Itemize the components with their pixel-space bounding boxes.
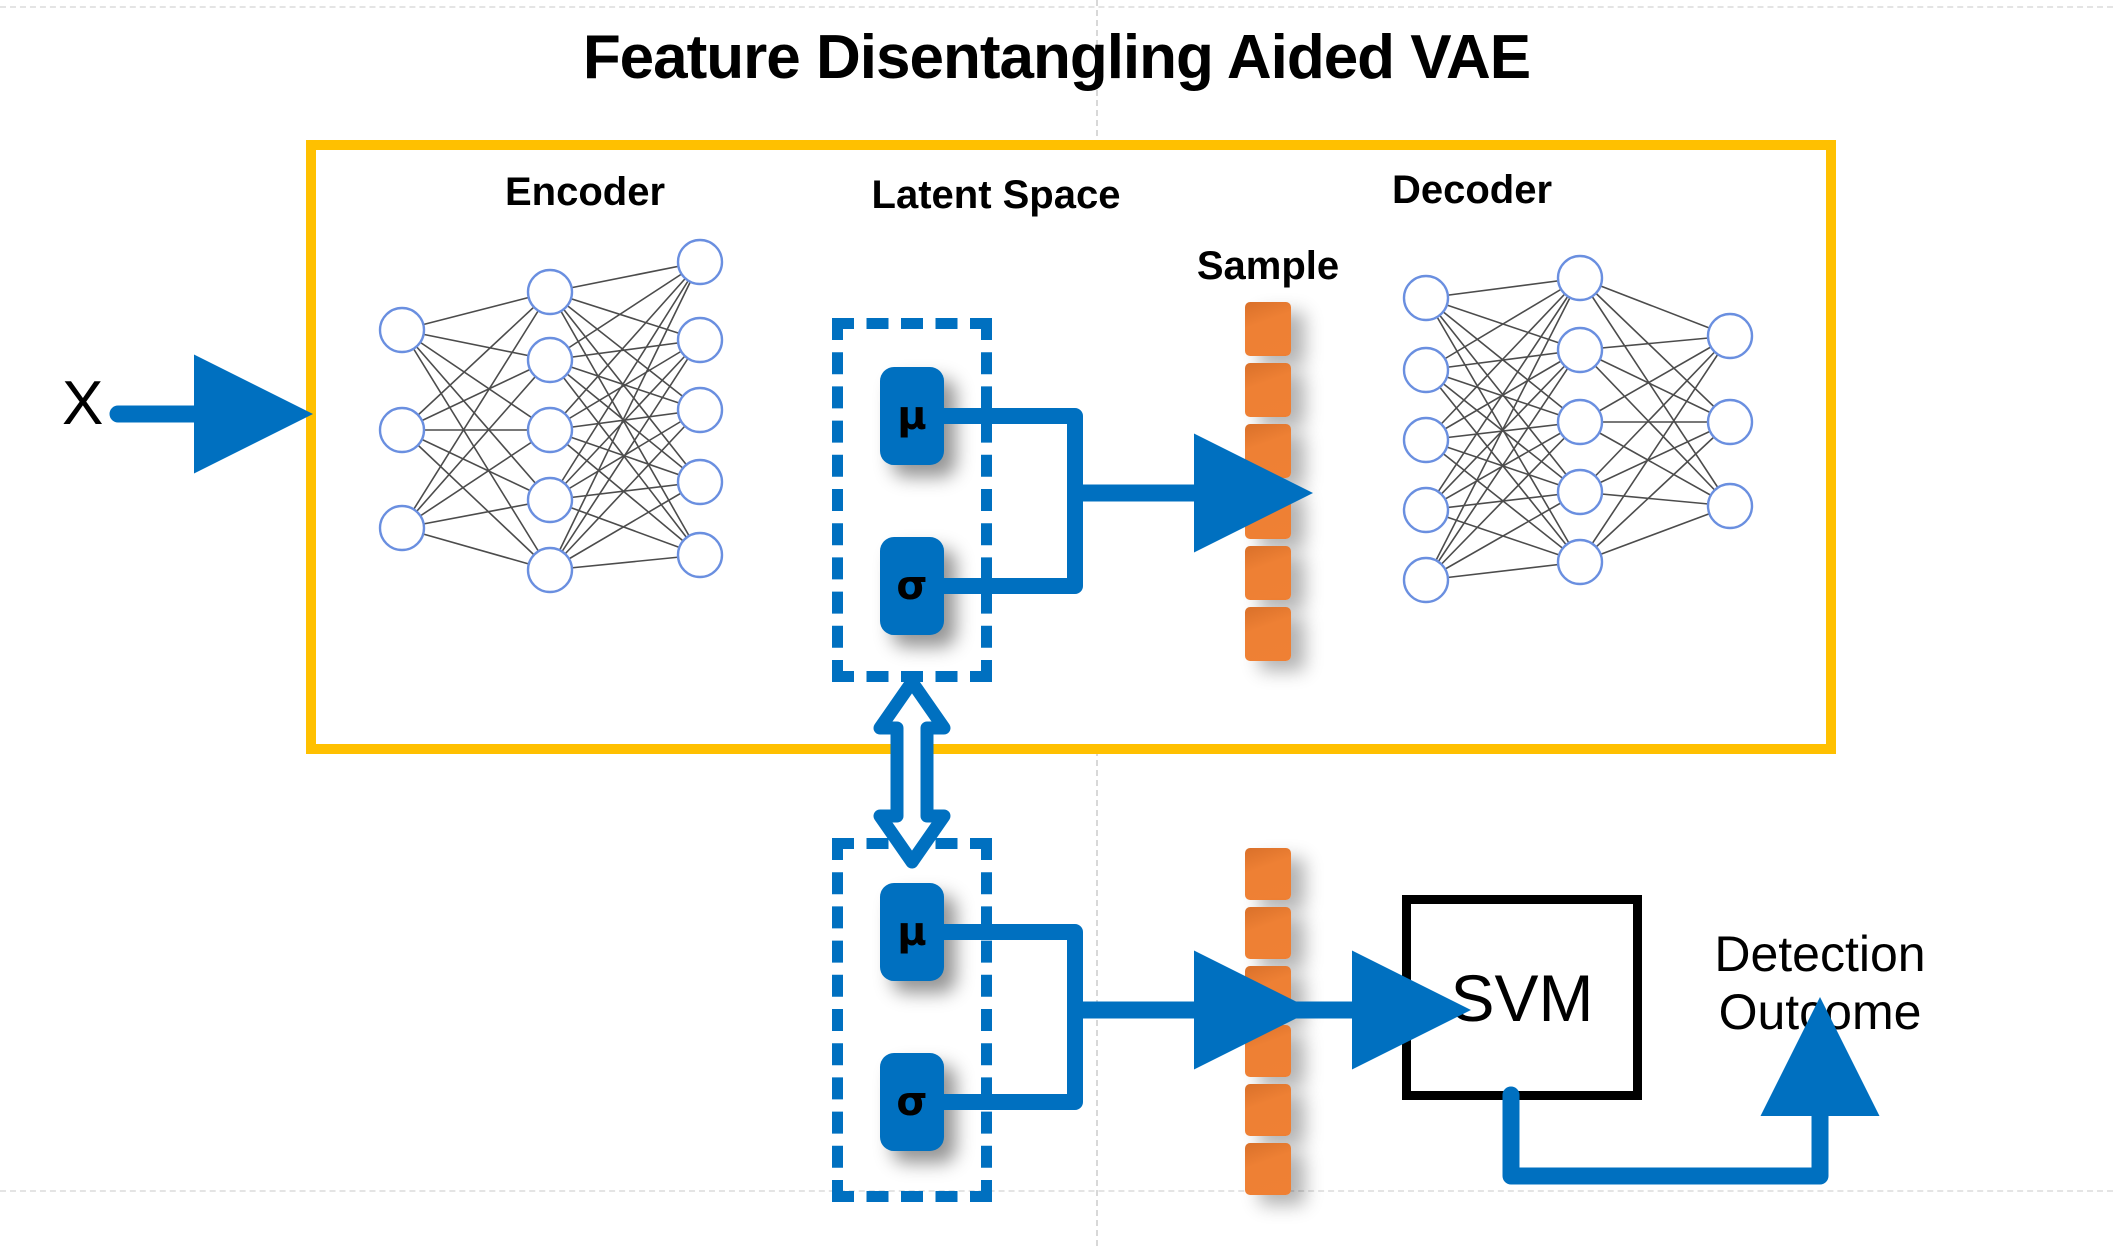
latent-sigma-top: σ [880,537,944,635]
latent-sigma-bottom: σ [880,1053,944,1151]
sample-cell [1245,1143,1291,1195]
latent-mu-bottom: μ [880,883,944,981]
sample-cell [1245,848,1291,900]
sample-cell [1245,907,1291,959]
svm-box: SVM [1402,895,1642,1100]
page-title: Feature Disentangling Aided VAE [0,22,2113,93]
encoder-network [370,270,740,670]
sample-cell [1245,1025,1291,1077]
label-encoder: Encoder [435,170,735,215]
sample-cell [1245,1084,1291,1136]
sample-cell [1245,424,1291,478]
diagram-canvas: Feature Disentangling Aided VAE Encoder … [0,0,2113,1246]
slide-guide-horizontal-bottom [0,1190,2113,1192]
label-sample: Sample [1118,244,1418,289]
decoder-network [1400,288,1770,688]
label-latent-space: Latent Space [796,173,1196,218]
detection-outcome-label: Detection Outcome [1700,925,1940,1041]
input-label-x: X [62,368,103,439]
label-decoder: Decoder [1322,168,1622,213]
slide-guide-horizontal-top [0,6,2113,8]
sample-cell [1245,485,1291,539]
sample-cell [1245,546,1291,600]
sample-cell [1245,966,1291,1018]
latent-mu-top: μ [880,367,944,465]
sample-cell [1245,363,1291,417]
sample-cell [1245,607,1291,661]
sample-cell [1245,302,1291,356]
